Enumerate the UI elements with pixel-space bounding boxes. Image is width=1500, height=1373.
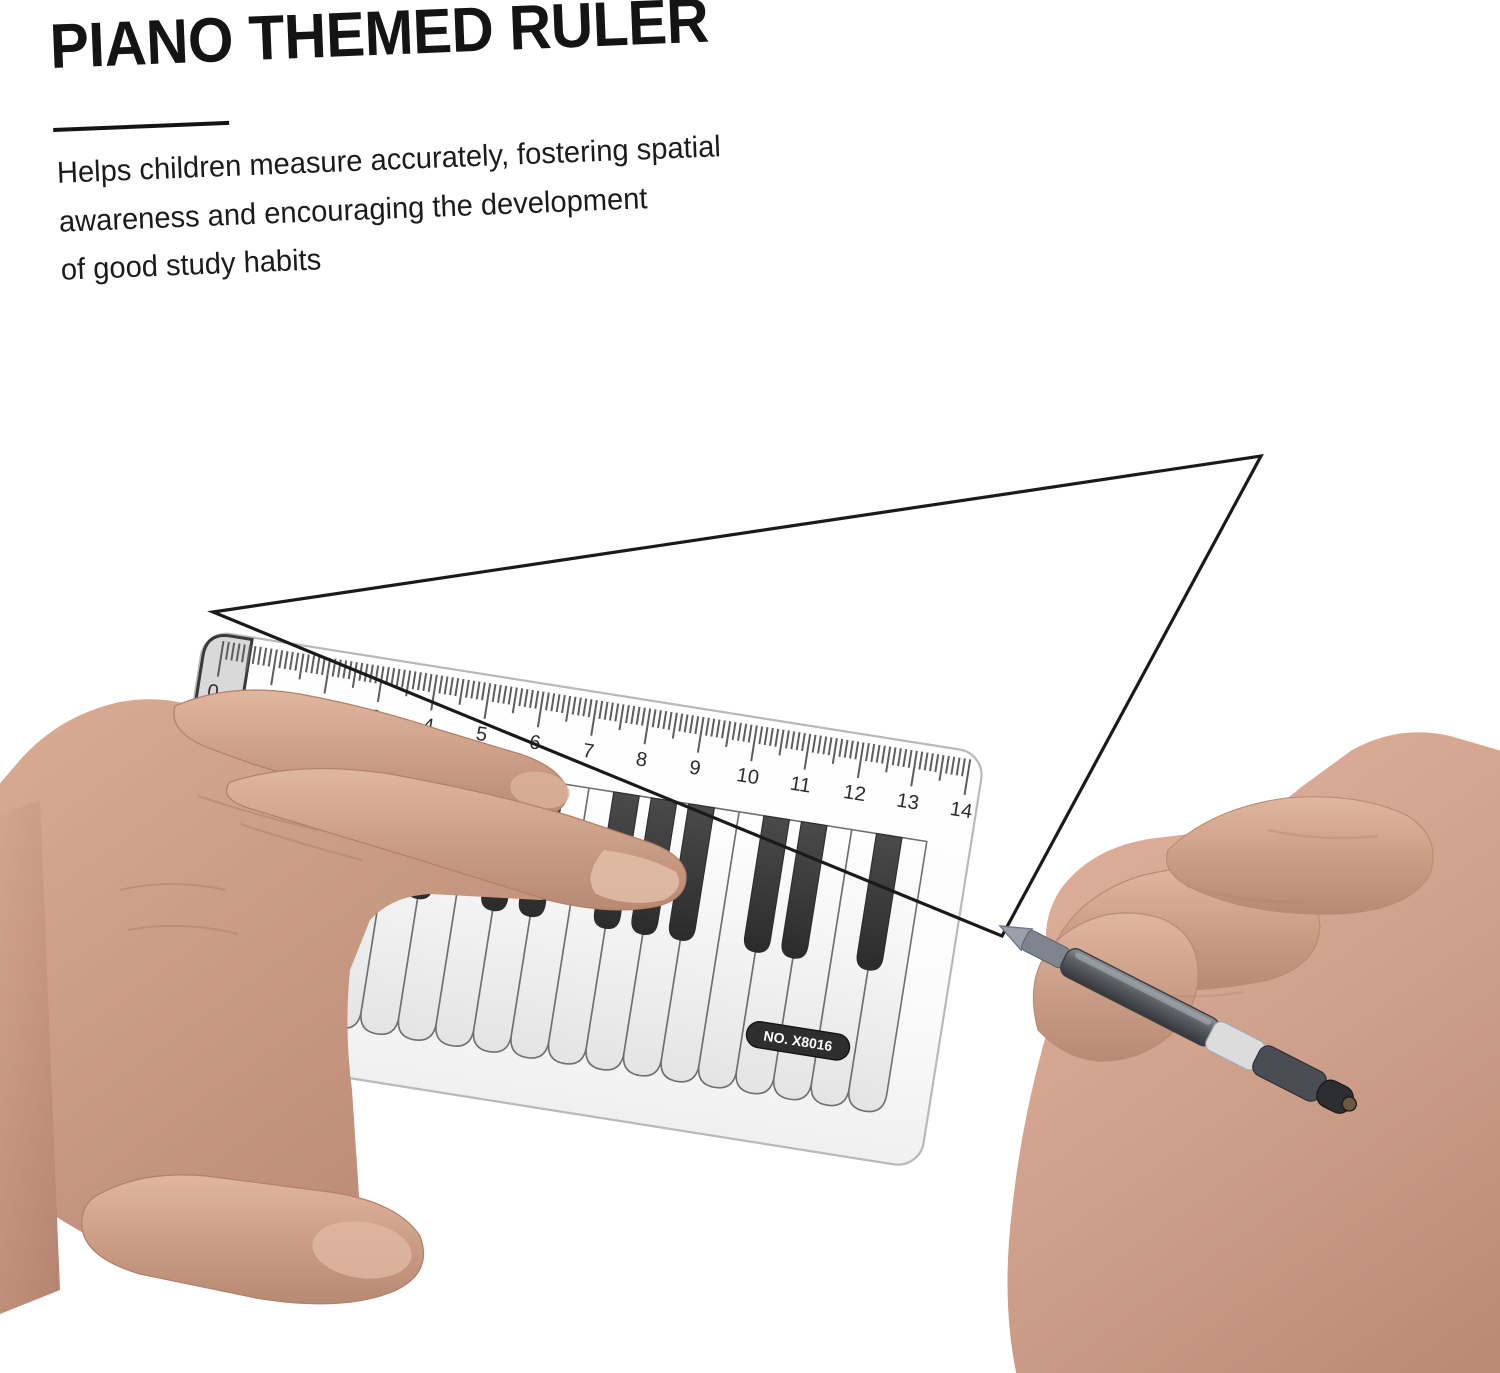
- header-text-block: PIANO THEMED RULER Helps children measur…: [0, 0, 1112, 320]
- page-subtitle: Helps children measure accurately, foste…: [56, 123, 726, 295]
- product-photo: 0cm 1 2 3 4 5 6 7 8 9 10 11 12 13 14: [0, 330, 1500, 1373]
- ruler-number-14: 14: [948, 798, 973, 823]
- product-photo-svg: 0cm 1 2 3 4 5 6 7 8 9 10 11 12 13 14: [0, 330, 1500, 1373]
- page-title: PIANO THEMED RULER: [49, 0, 710, 79]
- ruler-number-10: 10: [735, 764, 760, 789]
- ruler-number-11: 11: [788, 773, 812, 798]
- ruler-number-13: 13: [895, 789, 920, 814]
- ruler-number-12: 12: [842, 781, 867, 806]
- title-divider: [53, 121, 229, 132]
